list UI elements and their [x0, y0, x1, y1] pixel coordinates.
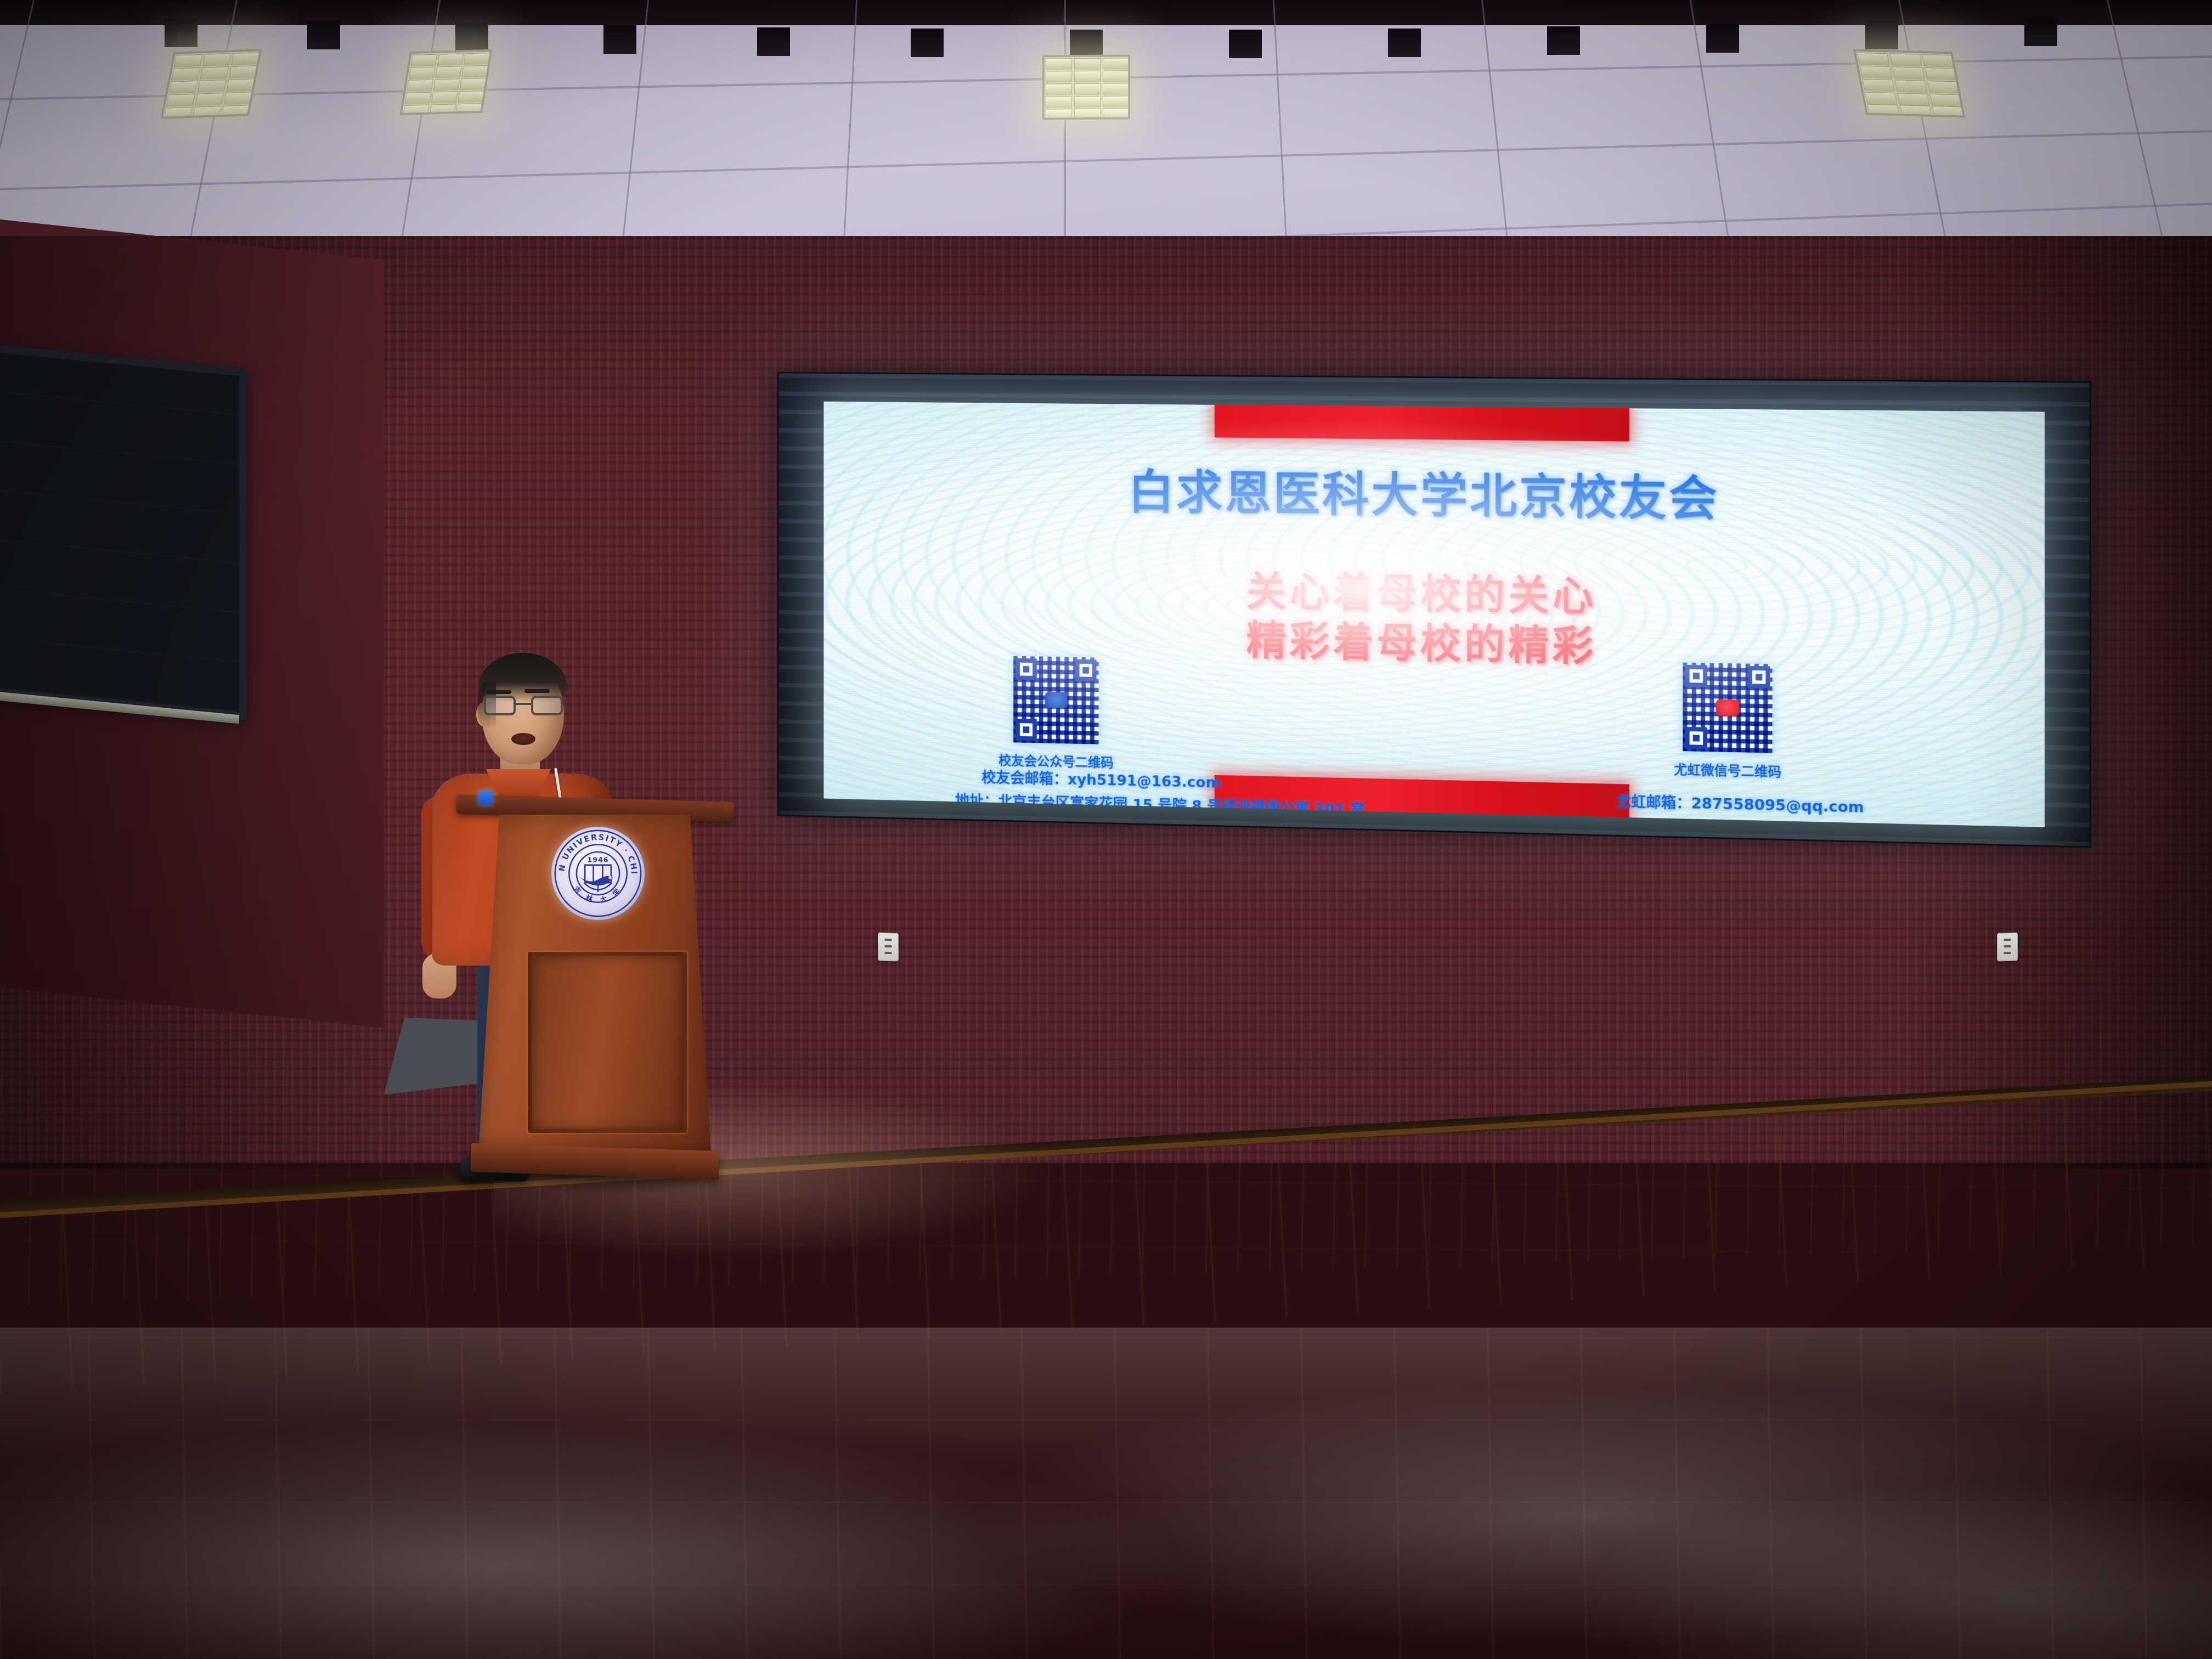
ceiling-notch	[603, 25, 636, 54]
speaker-eyebrow	[524, 689, 550, 693]
led-screen-frame: 白求恩医科大学北京校友会 关心着母校的关心 精彩着母校的精彩 校友会公众号二维码	[777, 371, 2091, 848]
ceiling-notch	[757, 27, 790, 56]
ceiling-notch	[1229, 30, 1262, 58]
microphone-icon	[478, 791, 493, 805]
auditorium-floor	[0, 1328, 2212, 1659]
lectern-podium: JILIN UNIVERSITY · CHINA 吉 林 大 学 1946	[466, 798, 724, 1177]
ceiling-notch-row	[0, 11, 2212, 49]
ceiling-notch	[455, 23, 488, 52]
svg-text:JILIN UNIVERSITY · CHINA: JILIN UNIVERSITY · CHINA	[551, 827, 638, 875]
ceiling-notch	[307, 21, 340, 49]
glasses-icon	[482, 696, 565, 718]
led-moire-scanline-overlay	[823, 402, 2045, 827]
ceiling-light-fixture	[399, 49, 492, 115]
ceiling-notch	[165, 19, 198, 47]
board-surface	[0, 353, 239, 712]
wall-socket[interactable]	[1997, 933, 2018, 962]
ceiling-light-fixture	[1042, 54, 1130, 120]
ceiling-notch	[2024, 18, 2057, 46]
ceiling-tile-line	[0, 130, 2212, 190]
ceiling-notch	[1547, 26, 1580, 55]
wall-socket[interactable]	[878, 933, 899, 962]
ceiling-light-fixture	[161, 49, 262, 119]
glasses-left-lens	[484, 696, 516, 715]
speaker-mouth	[511, 733, 535, 745]
jilin-university-emblem: JILIN UNIVERSITY · CHINA 吉 林 大 学 1946	[551, 827, 645, 920]
podium-front-panel	[528, 952, 687, 1133]
ceiling-notch	[911, 29, 944, 57]
led-screen-display[interactable]: 白求恩医科大学北京校友会 关心着母校的关心 精彩着母校的精彩 校友会公众号二维码	[823, 402, 2045, 827]
ceiling-notch	[1388, 29, 1421, 57]
ceiling-notch	[1706, 24, 1739, 53]
speaker-eyebrow	[486, 690, 511, 694]
lecture-hall-photo: 白求恩医科大学北京校友会 关心着母校的关心 精彩着母校的精彩 校友会公众号二维码	[0, 0, 2212, 1659]
svg-text:1946: 1946	[588, 856, 609, 865]
podium-body: JILIN UNIVERSITY · CHINA 吉 林 大 学 1946	[478, 815, 711, 1153]
ceiling-light-fixture	[1853, 49, 1965, 117]
ceiling-notch	[1865, 21, 1898, 49]
glasses-right-lens	[531, 696, 563, 715]
ceiling-notch	[1070, 30, 1103, 58]
glasses-bridge	[516, 703, 531, 705]
wall-display-board	[0, 344, 247, 720]
